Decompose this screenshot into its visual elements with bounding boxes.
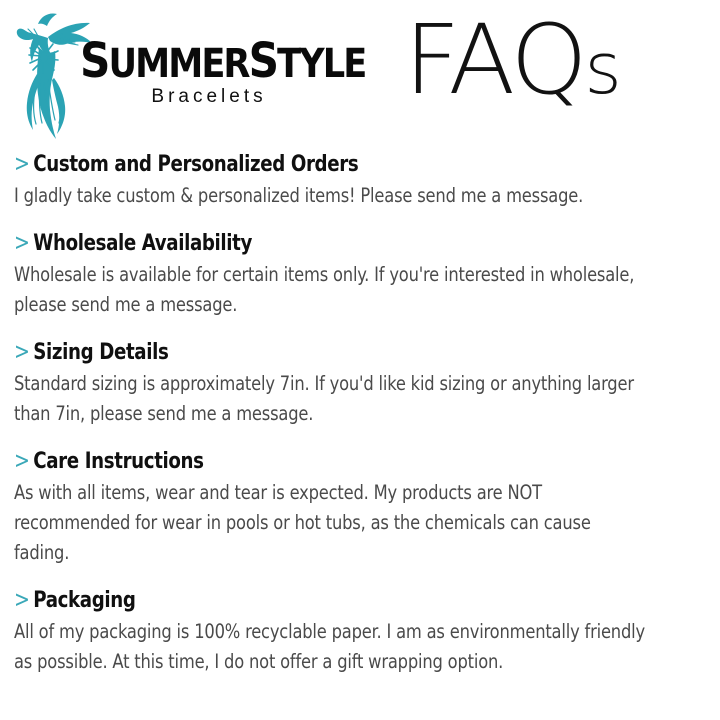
faq-heading-label: Care Instructions: [33, 449, 203, 474]
faq-heading: >Wholesale Availability: [14, 229, 649, 258]
faq-item-custom-orders: >Custom and Personalized Orders I gladly…: [14, 150, 704, 211]
chevron-right-icon: >: [14, 586, 30, 614]
faq-body: Standard sizing is approximately 7in. If…: [14, 369, 646, 429]
brand-wordmark: SUMMERSTYLE Bracelets: [80, 40, 310, 108]
faq-item-care-instructions: >Care Instructions As with all items, we…: [14, 447, 704, 568]
faq-heading-label: Packaging: [33, 588, 135, 613]
faq-body: All of my packaging is 100% recyclable p…: [14, 617, 646, 677]
chevron-right-icon: >: [14, 229, 30, 257]
faq-list: >Custom and Personalized Orders I gladly…: [14, 150, 704, 695]
faq-heading: >Sizing Details: [14, 338, 649, 367]
page-header: SUMMERSTYLE Bracelets FAQs: [0, 0, 720, 145]
chevron-right-icon: >: [14, 447, 30, 475]
faq-heading: >Packaging: [14, 586, 649, 615]
faq-body: As with all items, wear and tear is expe…: [14, 478, 646, 568]
brand-text-tyle: TYLE: [277, 41, 365, 87]
page-title-main: FAQ: [404, 4, 584, 116]
faq-heading-label: Sizing Details: [33, 340, 168, 365]
faq-body: Wholesale is available for certain items…: [14, 260, 646, 320]
faq-heading: >Care Instructions: [14, 447, 649, 476]
faq-item-packaging: >Packaging All of my packaging is 100% r…: [14, 586, 704, 677]
page-title: FAQs: [404, 8, 619, 121]
faq-item-wholesale-availability: >Wholesale Availability Wholesale is ava…: [14, 229, 704, 320]
page-title-suffix: s: [584, 28, 618, 110]
brand-name-primary: SUMMERSTYLE: [80, 40, 282, 85]
brand-text-ummer: UMMER: [108, 41, 248, 87]
brand-initial-s2: S: [249, 33, 277, 89]
faq-heading: >Custom and Personalized Orders: [14, 150, 649, 179]
chevron-right-icon: >: [14, 338, 30, 366]
faq-body: I gladly take custom & personalized item…: [14, 181, 646, 211]
brand-initial-s1: S: [80, 33, 108, 89]
chevron-right-icon: >: [14, 150, 30, 178]
brand-name-secondary: Bracelets: [114, 86, 304, 108]
faq-item-sizing-details: >Sizing Details Standard sizing is appro…: [14, 338, 704, 429]
faq-heading-label: Wholesale Availability: [33, 231, 252, 256]
faq-heading-label: Custom and Personalized Orders: [33, 152, 358, 177]
brand-logo: SUMMERSTYLE Bracelets: [8, 8, 308, 143]
